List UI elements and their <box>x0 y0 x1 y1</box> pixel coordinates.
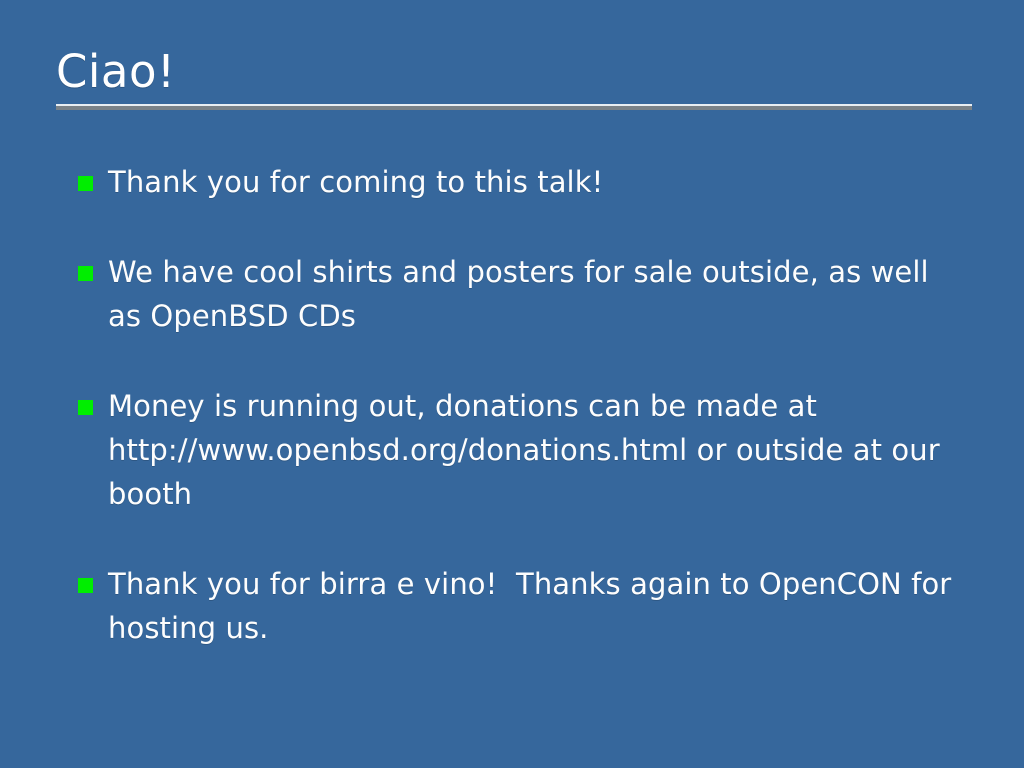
page-title: Ciao! <box>56 46 972 98</box>
square-bullet-icon <box>78 578 93 593</box>
title-divider-shadow <box>56 106 972 110</box>
list-item: Thank you for coming to this talk! <box>76 160 966 204</box>
square-bullet-icon <box>78 266 93 281</box>
list-item: We have cool shirts and posters for sale… <box>76 250 966 338</box>
bullet-text: We have cool shirts and posters for sale… <box>108 255 938 333</box>
bullet-text: Thank you for coming to this talk! <box>108 165 603 199</box>
bullet-text: Money is running out, donations can be m… <box>108 389 949 511</box>
square-bullet-icon <box>78 400 93 415</box>
presentation-slide: Ciao! Thank you for coming to this talk!… <box>0 0 1024 768</box>
list-item: Thank you for birra e vino! Thanks again… <box>76 562 966 650</box>
title-divider <box>56 104 972 110</box>
slide-body: Thank you for coming to this talk! We ha… <box>76 160 966 650</box>
slide-title-block: Ciao! <box>56 46 972 98</box>
square-bullet-icon <box>78 176 93 191</box>
list-item: Money is running out, donations can be m… <box>76 384 966 516</box>
bullet-text: Thank you for birra e vino! Thanks again… <box>108 567 961 645</box>
